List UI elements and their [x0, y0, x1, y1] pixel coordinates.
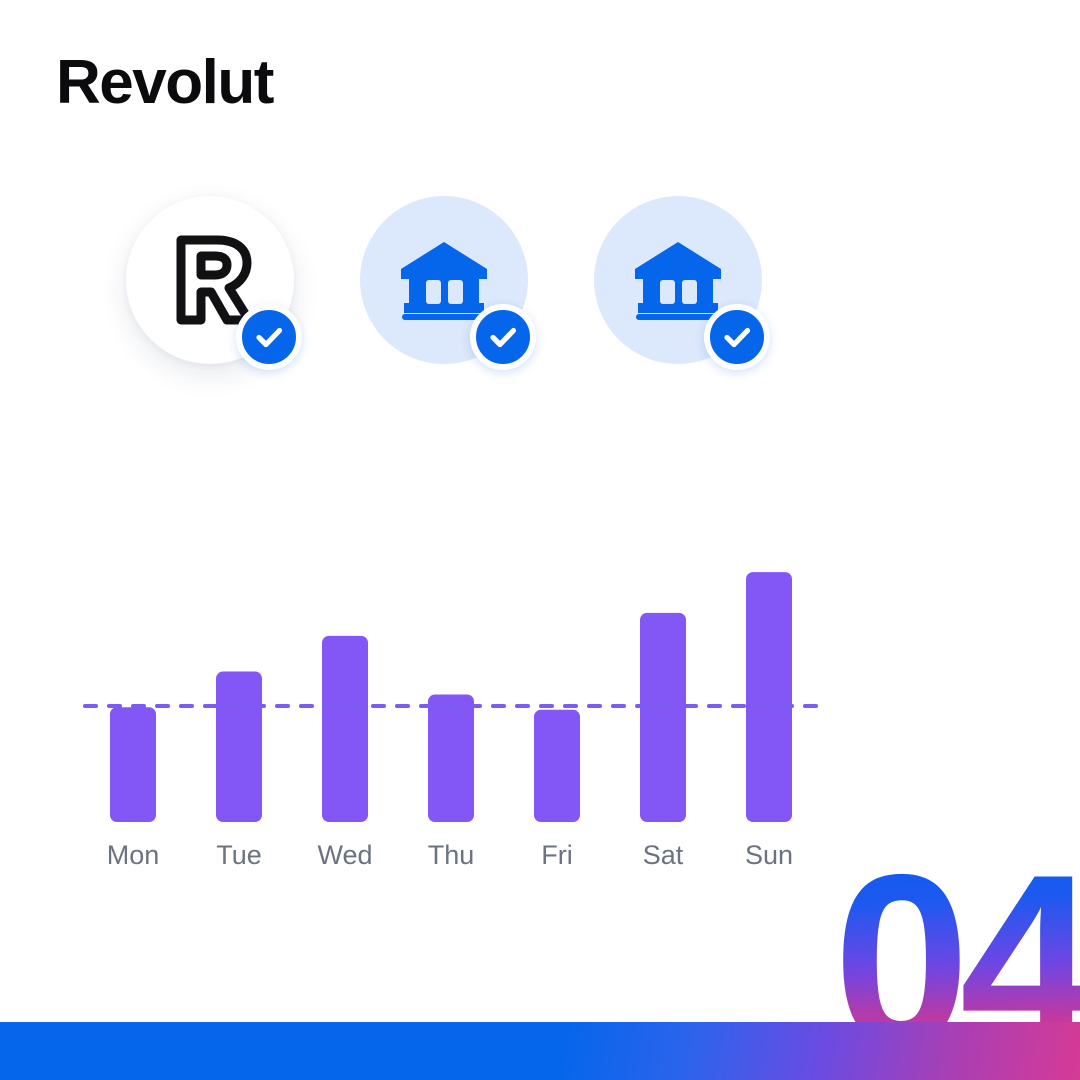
x-tick-sun: Sun [745, 840, 793, 871]
bar-sun[interactable] [746, 572, 792, 822]
bar-chart-plot [0, 540, 1080, 840]
verified-check-badge [704, 304, 770, 370]
account-badge-revolut[interactable] [126, 196, 294, 364]
x-tick-wed: Wed [317, 840, 372, 871]
bar-thu[interactable] [428, 695, 474, 823]
account-badge-bank-2[interactable] [594, 196, 762, 364]
x-tick-sat: Sat [643, 840, 684, 871]
check-icon [720, 320, 754, 354]
bar-tue[interactable] [216, 672, 262, 822]
brand-wordmark: Revolut [56, 52, 273, 114]
x-tick-mon: Mon [107, 840, 160, 871]
revolut-r-logo-icon [167, 234, 253, 326]
x-tick-thu: Thu [428, 840, 475, 871]
bar-fri[interactable] [534, 710, 580, 822]
bank-icon [398, 239, 490, 321]
verified-accounts-row [0, 196, 1080, 396]
slide-canvas: Revolut [0, 0, 1080, 1080]
verified-check-badge [236, 304, 302, 370]
check-icon [252, 320, 286, 354]
bottom-gradient-band [0, 1022, 1080, 1080]
x-tick-tue: Tue [216, 840, 262, 871]
bar-sat[interactable] [640, 613, 686, 822]
account-badge-bank-1[interactable] [360, 196, 528, 364]
x-tick-fri: Fri [541, 840, 572, 871]
bar-mon[interactable] [110, 707, 156, 822]
bank-icon [632, 239, 724, 321]
verified-check-badge [470, 304, 536, 370]
bar-wed[interactable] [322, 636, 368, 822]
check-icon [486, 320, 520, 354]
